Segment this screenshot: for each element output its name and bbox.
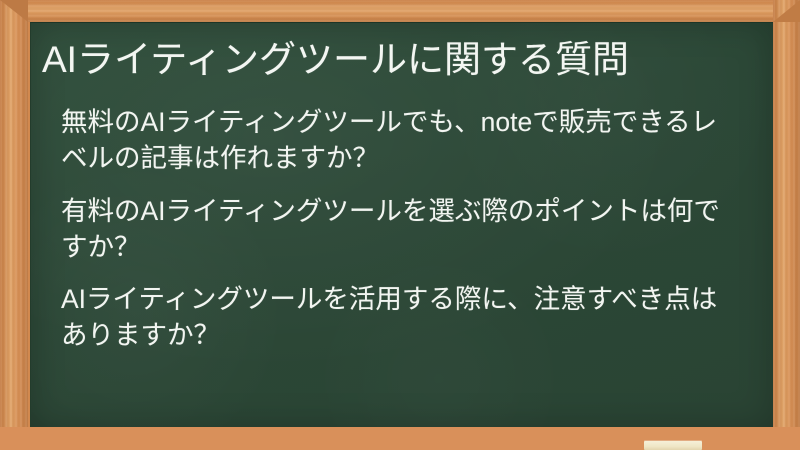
- board-content: AIライティングツールに関する質問 無料のAIライティングツールでも、noteで…: [31, 23, 773, 353]
- frame-top-rail: [0, 0, 800, 22]
- question-list: 無料のAIライティングツールでも、noteで販売できるレベルの記事は作れますか？…: [37, 104, 761, 352]
- frame-right-rail: [773, 0, 800, 450]
- list-item: AIライティングツールを活用する際に、注意すべき点はありますか？: [61, 281, 729, 353]
- frame-corner-top-left: [0, 0, 28, 22]
- list-item: 無料のAIライティングツールでも、noteで販売できるレベルの記事は作れますか？: [61, 104, 729, 176]
- frame-left-rail: [0, 0, 28, 450]
- page-title: AIライティングツールに関する質問: [42, 39, 761, 80]
- frame-corner-top-right: [773, 0, 800, 22]
- chalkboard-surface: AIライティングツールに関する質問 無料のAIライティングツールでも、noteで…: [30, 22, 773, 427]
- blackboard-slide: AIライティングツールに関する質問 無料のAIライティングツールでも、noteで…: [0, 0, 800, 450]
- chalk-stick: [644, 441, 702, 450]
- list-item: 有料のAIライティングツールを選ぶ際のポイントは何ですか？: [61, 193, 729, 265]
